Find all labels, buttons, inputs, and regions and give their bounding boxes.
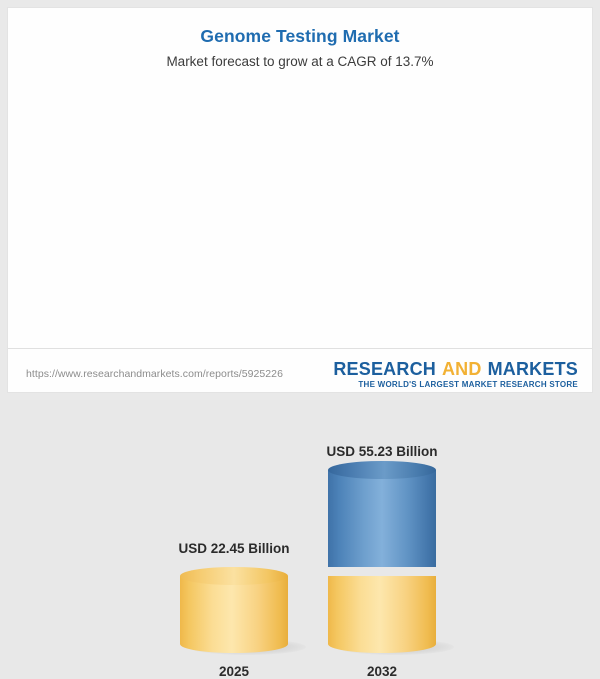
chart-plot-area: USD 22.45 Billion 2025 USD 55.23 Billion — [8, 8, 592, 348]
source-url[interactable]: https://www.researchandmarkets.com/repor… — [26, 368, 283, 380]
cylinder-body — [180, 576, 288, 644]
x-axis-label-2032: 2032 — [272, 664, 492, 679]
logo-word-and: AND — [442, 359, 482, 379]
cylinder-bottom-cap — [328, 635, 436, 653]
logo-wordmark: RESEARCHANDMARKETS — [333, 360, 578, 379]
cylinder-bottom-cap — [180, 635, 288, 653]
logo-tagline: THE WORLD'S LARGEST MARKET RESEARCH STOR… — [333, 380, 578, 389]
bar-value-label-2032: USD 55.23 Billion — [272, 444, 492, 459]
bar-segment-2032-growth[interactable] — [328, 461, 436, 576]
cylinder-body — [328, 470, 436, 567]
logo-word-research: RESEARCH — [333, 359, 436, 379]
page-background: Genome Testing Market Market forecast to… — [0, 0, 600, 400]
bar-segment-2032-base[interactable] — [328, 567, 436, 653]
bar-value-label-2025: USD 22.45 Billion — [124, 541, 344, 556]
footer-divider — [8, 348, 592, 349]
cylinder-top-cap — [180, 567, 288, 585]
cylinder-body — [328, 576, 436, 644]
logo-word-markets: MARKETS — [488, 359, 578, 379]
chart-card: Genome Testing Market Market forecast to… — [8, 8, 592, 392]
bar-segment-2025-base[interactable] — [180, 567, 288, 653]
cylinder-top-cap — [328, 461, 436, 479]
research-and-markets-logo[interactable]: RESEARCHANDMARKETS THE WORLD'S LARGEST M… — [333, 360, 578, 389]
